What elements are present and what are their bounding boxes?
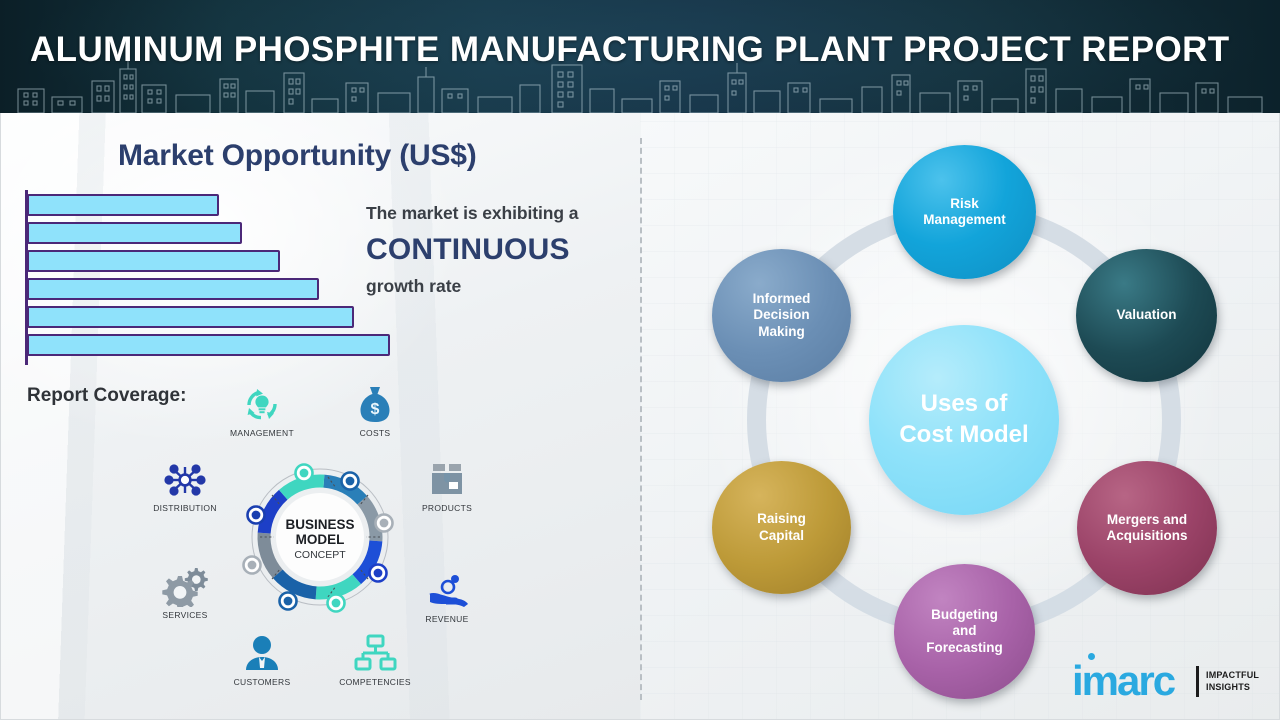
blurb-line-1: The market is exhibiting a <box>366 203 636 224</box>
logo-dot-icon <box>1088 653 1095 660</box>
logo-tagline-line-1: IMPACTFUL <box>1206 669 1259 681</box>
coverage-label: COMPETENCIES <box>320 677 430 687</box>
node-informed-decision-making[interactable]: Informed Decision Making <box>712 249 851 382</box>
node-label-line: Capital <box>757 528 806 544</box>
gears-icon <box>130 563 240 607</box>
wheel-title-line2: MODEL <box>296 532 345 547</box>
center-line-1: Uses of <box>899 389 1028 420</box>
wheel-title-line1: BUSINESS <box>285 517 354 532</box>
node-label-line: Raising <box>757 511 806 527</box>
coverage-item-competencies: COMPETENCIES <box>320 630 430 687</box>
node-label-line: and <box>926 623 1003 639</box>
coverage-item-customers: CUSTOMERS <box>207 630 317 687</box>
logo-tagline-line-2: INSIGHTS <box>1206 681 1259 693</box>
node-mergers-and-acquisitions[interactable]: Mergers and Acquisitions <box>1077 461 1217 595</box>
center-line-2: Cost Model <box>899 420 1028 451</box>
page-header: ALUMINUM PHOSPHITE MANUFACTURING PLANT P… <box>0 0 1280 113</box>
coverage-item-products: PRODUCTS <box>392 456 502 513</box>
chart-bar <box>27 334 390 356</box>
coverage-label: DISTRIBUTION <box>130 503 240 513</box>
node-label-line: Management <box>923 212 1006 228</box>
node-budgeting-and-forecasting[interactable]: Budgeting and Forecasting <box>894 564 1035 699</box>
coverage-item-management: MANAGEMENT <box>207 381 317 438</box>
chart-bar <box>27 250 280 272</box>
blurb-line-3: growth rate <box>366 276 636 297</box>
chart-bar <box>27 278 319 300</box>
slide-root: ALUMINUM PHOSPHITE MANUFACTURING PLANT P… <box>0 0 1280 720</box>
node-label-line: Risk <box>923 196 1006 212</box>
market-blurb: The market is exhibiting a CONTINUOUS gr… <box>366 203 636 297</box>
node-label-line: Acquisitions <box>1106 528 1187 544</box>
node-valuation[interactable]: Valuation <box>1076 249 1217 382</box>
coverage-label: MANAGEMENT <box>207 428 317 438</box>
coverage-label: SERVICES <box>130 610 240 620</box>
node-label-line: Decision <box>753 307 811 323</box>
imarc-logo[interactable]: imarc IMPACTFUL INSIGHTS <box>1072 660 1262 706</box>
node-label-line: Mergers and <box>1106 512 1187 528</box>
chart-bar <box>27 194 219 216</box>
network-hub-icon <box>130 456 240 500</box>
business-model-wheel: BUSINESS MODEL CONCEPT <box>240 455 400 620</box>
svg-text:$: $ <box>371 401 380 418</box>
lightbulb-recycle-icon <box>207 381 317 425</box>
coverage-item-revenue: REVENUE <box>392 567 502 624</box>
panel-divider <box>640 138 642 700</box>
coverage-item-services: SERVICES <box>130 563 240 620</box>
report-coverage-label: Report Coverage: <box>27 385 186 407</box>
node-label-line: Valuation <box>1116 307 1176 323</box>
coverage-label: PRODUCTS <box>392 503 502 513</box>
person-icon <box>207 630 317 674</box>
org-chart-icon <box>320 630 430 674</box>
coverage-label: CUSTOMERS <box>207 677 317 687</box>
coverage-label: REVENUE <box>392 614 502 624</box>
blurb-line-2: CONTINUOUS <box>366 233 636 267</box>
open-box-icon <box>392 456 502 500</box>
center-node-uses-of-cost-model: Uses of Cost Model <box>869 325 1059 515</box>
wheel-subtitle: CONCEPT <box>294 549 346 561</box>
market-opportunity-chart <box>25 190 405 365</box>
coverage-label: COSTS <box>320 428 430 438</box>
logo-tagline: IMPACTFUL INSIGHTS <box>1206 669 1259 693</box>
coverage-item-distribution: DISTRIBUTION <box>130 456 240 513</box>
node-label-line: Making <box>753 324 811 340</box>
node-label-line: Informed <box>753 291 811 307</box>
coverage-item-costs: $ COSTS <box>320 381 430 438</box>
node-raising-capital[interactable]: Raising Capital <box>712 461 851 594</box>
chart-bar <box>27 306 354 328</box>
money-bag-icon: $ <box>320 381 430 425</box>
hand-coins-icon <box>392 567 502 611</box>
page-title: ALUMINUM PHOSPHITE MANUFACTURING PLANT P… <box>30 30 1250 70</box>
chart-bar <box>27 222 242 244</box>
market-opportunity-title: Market Opportunity (US$) <box>118 139 477 173</box>
node-label-line: Forecasting <box>926 640 1003 656</box>
node-label-line: Budgeting <box>926 607 1003 623</box>
logo-divider <box>1196 666 1199 697</box>
node-risk-management[interactable]: Risk Management <box>893 145 1036 279</box>
